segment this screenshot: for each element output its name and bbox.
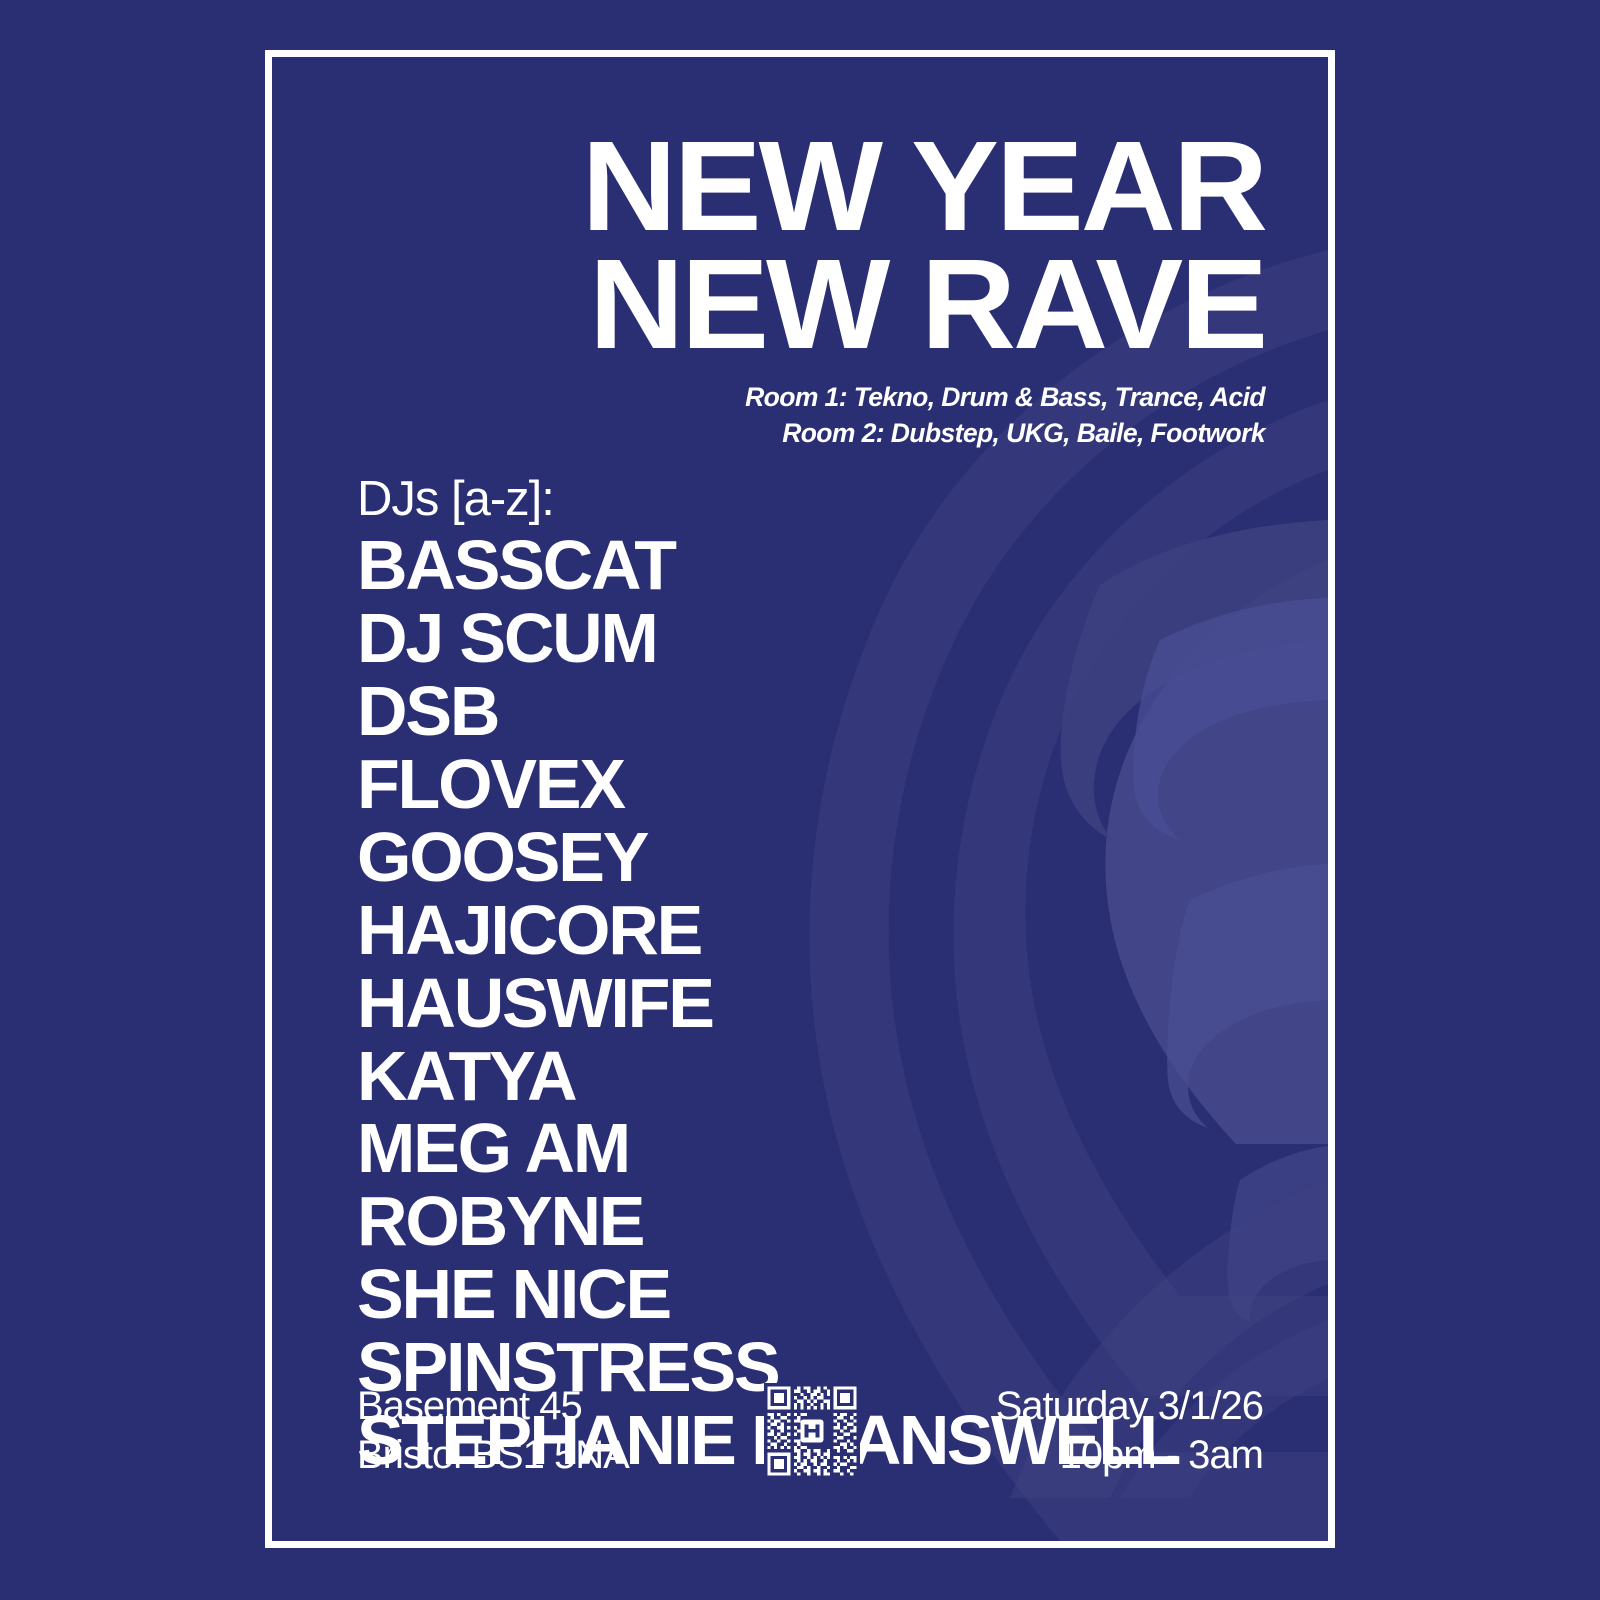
dj-name: GOOSEY: [357, 821, 1277, 894]
poster-title: NEW YEAR NEW RAVE: [265, 128, 1265, 364]
title-line-2: NEW RAVE: [235, 246, 1265, 364]
dj-name: DSB: [357, 675, 1277, 748]
dj-name: HAJICORE: [357, 894, 1277, 967]
event-date: Saturday 3/1/26: [996, 1382, 1263, 1431]
venue-info: Basement 45 Bristol BS1 5NA: [357, 1382, 629, 1480]
dj-name: HAUSWIFE: [357, 967, 1277, 1040]
dj-name: MEG AM: [357, 1112, 1277, 1185]
dj-name: FLOVEX: [357, 748, 1277, 821]
title-line-1: NEW YEAR: [235, 128, 1265, 246]
room-listing: Room 1: Tekno, Drum & Bass, Trance, Acid…: [265, 380, 1265, 451]
qr-code-icon: [764, 1383, 860, 1479]
dj-lineup-label: DJs [a-z]:: [357, 475, 1277, 525]
dj-name: SHE NICE: [357, 1258, 1277, 1331]
dj-name: DJ SCUM: [357, 602, 1277, 675]
event-time: 10pm - 3am: [996, 1431, 1263, 1480]
poster-footer: Basement 45 Bristol BS1 5NA: [357, 1382, 1263, 1480]
poster-content: NEW YEAR NEW RAVE Room 1: Tekno, Drum & …: [265, 50, 1335, 1548]
dj-name: BASSCAT: [357, 529, 1277, 602]
venue-address: Bristol BS1 5NA: [357, 1431, 629, 1480]
room-line-2: Room 2: Dubstep, UKG, Baile, Footwork: [265, 416, 1265, 452]
dj-name: ROBYNE: [357, 1185, 1277, 1258]
dj-lineup: DJs [a-z]: BASSCAT DJ SCUM DSB FLOVEX GO…: [357, 475, 1277, 1477]
dj-name: KATYA: [357, 1040, 1277, 1113]
venue-name: Basement 45: [357, 1382, 629, 1431]
event-datetime: Saturday 3/1/26 10pm - 3am: [996, 1382, 1263, 1480]
qr-code[interactable]: [764, 1383, 860, 1479]
poster: NEW YEAR NEW RAVE Room 1: Tekno, Drum & …: [0, 0, 1600, 1600]
room-line-1: Room 1: Tekno, Drum & Bass, Trance, Acid: [265, 380, 1265, 416]
